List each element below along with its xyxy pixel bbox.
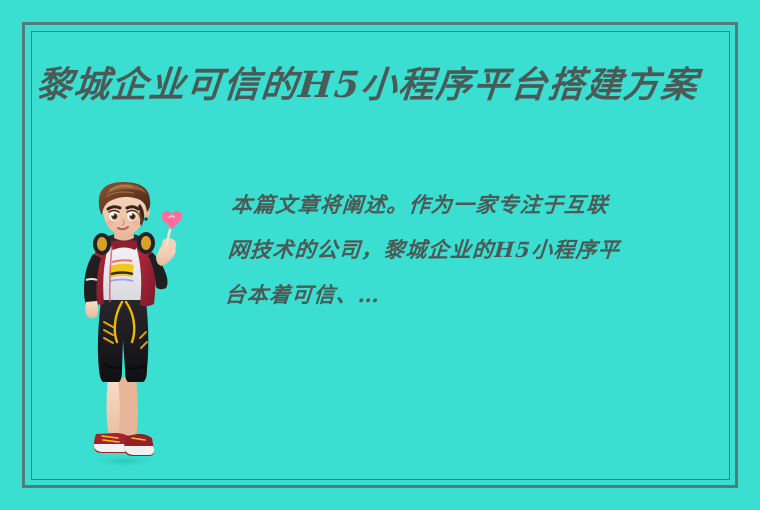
shorts [98, 300, 148, 382]
body-line-1: 本篇文章将阐述。作为一家专注于互联 [230, 182, 703, 227]
character-shadow [84, 453, 164, 469]
body-line-2: 网技术的公司，黎城企业的H5小程序平 [226, 227, 699, 272]
body-line-3: 台本着可信、… [223, 272, 696, 317]
lollipop-heart [162, 211, 183, 229]
ear-stud [144, 217, 147, 220]
poster-canvas: 黎城企业可信的H5小程序平台搭建方案 本篇文章将阐述。作为一家专注于互联 网技术… [0, 0, 760, 510]
right-leg [118, 378, 138, 442]
left-arm [85, 301, 98, 318]
cartoon-boy-character [62, 182, 186, 470]
sleeve-stripe [86, 279, 97, 280]
page-title: 黎城企业可信的H5小程序平台搭建方案 [34, 62, 738, 112]
blush-right [132, 221, 140, 226]
blush-left [106, 221, 114, 226]
body-paragraph: 本篇文章将阐述。作为一家专注于互联 网技术的公司，黎城企业的H5小程序平 台本着… [223, 182, 702, 317]
right-shoe [124, 434, 154, 456]
